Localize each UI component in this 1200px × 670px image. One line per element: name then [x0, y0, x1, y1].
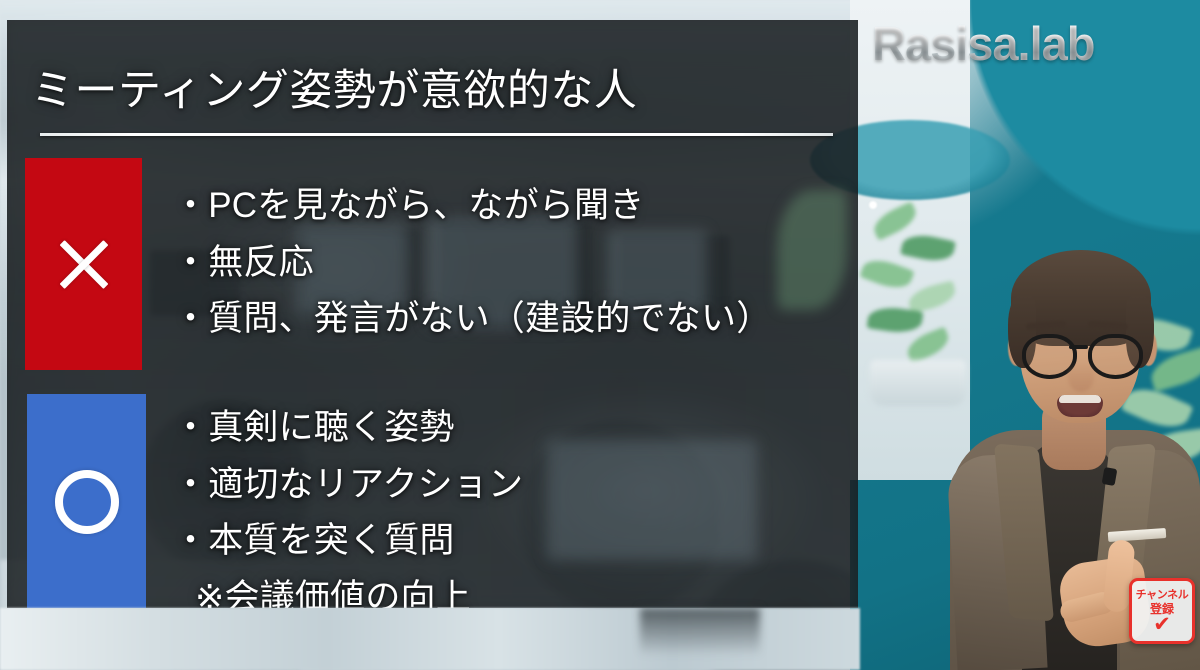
slide-title: ミーティング姿勢が意欲的な人 — [31, 56, 637, 118]
floor-shadow — [640, 608, 760, 656]
subscribe-button[interactable]: チャンネル 登録 ✔ — [1129, 578, 1195, 644]
x-mark-icon — [53, 233, 115, 295]
title-underline — [40, 133, 833, 136]
ghost-desk — [547, 440, 757, 560]
list-item: ・適切なリアクション — [173, 457, 523, 514]
teeth — [1059, 395, 1101, 403]
list-item: ・真剣に聴く姿勢 — [173, 400, 523, 457]
subscribe-label-line1: チャンネル — [1136, 590, 1189, 602]
list-item-note: ※会議価値の向上 — [173, 570, 523, 608]
bullet-list-negative: ・PCを見ながら、ながら聞き ・無反応 ・質問、発言がない（建設的でない） — [173, 178, 771, 348]
bullet-list-positive: ・真剣に聴く姿勢 ・適切なリアクション ・本質を突く質問 ※会議価値の向上 — [173, 400, 523, 608]
check-icon: ✔ — [1153, 617, 1171, 634]
marker-box-x — [25, 158, 142, 370]
glasses-lens-right — [1088, 334, 1143, 379]
list-item: ・無反応 — [173, 235, 771, 292]
video-frame: Rasisa.lab ミーティング姿勢が意欲的な人 ・PCを見ながら、ながら聞き… — [0, 0, 1200, 670]
list-item: ・質問、発言がない（建設的でない） — [173, 291, 771, 348]
marker-box-o — [27, 394, 146, 608]
list-item: ・本質を突く質問 — [173, 513, 523, 570]
list-item: ・PCを見ながら、ながら聞き — [173, 178, 771, 235]
brand-logo: Rasisa.lab — [872, 16, 1095, 71]
slide-panel: ミーティング姿勢が意欲的な人 ・PCを見ながら、ながら聞き ・無反応 ・質問、発… — [7, 20, 858, 608]
circle-mark-icon — [55, 470, 119, 534]
nose — [1068, 362, 1094, 392]
plant-left — [862, 200, 992, 400]
glasses-bridge — [1069, 345, 1088, 349]
ghost-plant — [777, 190, 847, 310]
